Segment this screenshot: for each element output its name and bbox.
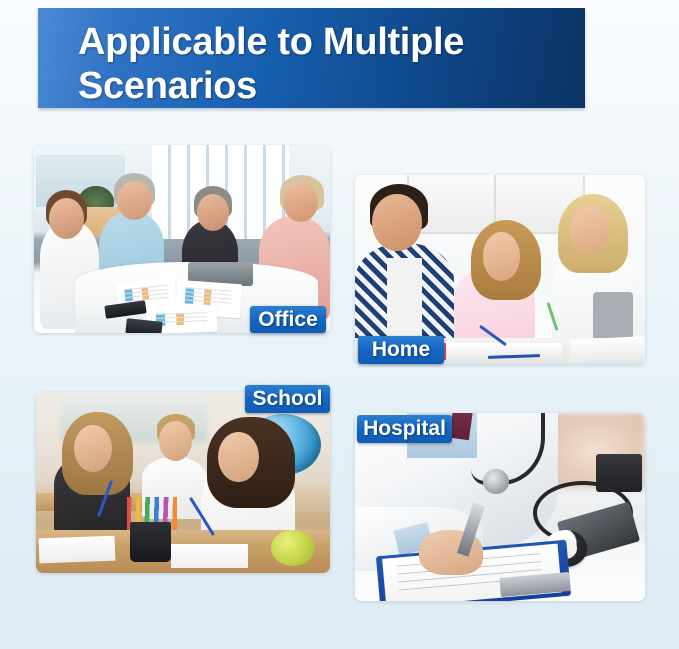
scenario-card-office (34, 145, 330, 333)
office-person-1-head (49, 198, 85, 239)
scenario-badge-home: Home (358, 336, 444, 364)
scenario-badge-office: Office (250, 306, 326, 333)
school-notebook-2 (171, 544, 247, 568)
school-girl-1-head (74, 425, 112, 472)
hospital-doctor-tie (449, 413, 473, 441)
school-photo (36, 392, 330, 573)
school-pencil-cup (130, 522, 171, 562)
school-boy-head (159, 421, 191, 461)
banner-title-line-1: Applicable to Multiple (78, 20, 464, 64)
stethoscope-chestpiece (483, 469, 509, 493)
school-apple (271, 530, 315, 566)
scenario-badge-hospital: Hospital (357, 415, 452, 443)
home-girl-head (483, 232, 521, 281)
home-open-book (569, 336, 645, 363)
applicable-scenarios-banner: Applicable to Multiple Scenarios (38, 8, 585, 108)
home-mother-top (593, 292, 634, 341)
office-photo (34, 145, 330, 333)
office-person-4-head (283, 183, 319, 222)
banner-title-line-2: Scenarios (78, 64, 257, 108)
school-notebook-1 (39, 535, 116, 563)
scenario-badge-school: School (245, 385, 330, 413)
home-father-head (372, 194, 421, 251)
scenario-card-school (36, 392, 330, 573)
